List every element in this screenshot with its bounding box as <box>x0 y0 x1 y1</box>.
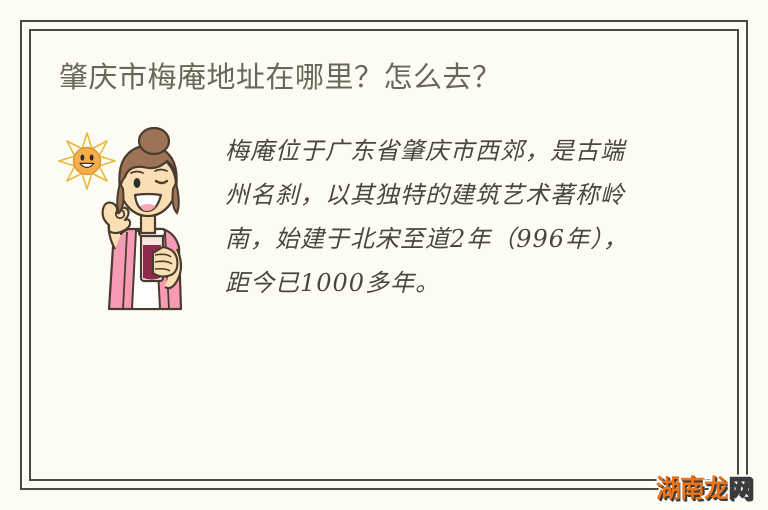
article-body-row: 梅庵位于广东省肇庆市西郊，是古端州名刹，以其独特的建筑艺术著称岭南，始建于北宋至… <box>57 119 709 319</box>
sun-icon <box>59 133 115 189</box>
illustration-girl-with-drink <box>57 119 217 319</box>
site-watermark: 湖 南 龙 网 <box>656 477 752 502</box>
article-page: 肇庆市梅庵地址在哪里？怎么去？ <box>0 0 768 510</box>
watermark-char-4: 网 <box>728 477 752 502</box>
girl-figure <box>103 128 181 309</box>
article-content: 肇庆市梅庵地址在哪里？怎么去？ <box>29 29 739 481</box>
illustration-svg <box>57 119 217 319</box>
watermark-char-3: 龙 <box>704 477 728 502</box>
page-title: 肇庆市梅庵地址在哪里？怎么去？ <box>57 55 659 101</box>
ok-hand <box>103 203 131 233</box>
watermark-char-2: 南 <box>680 477 704 502</box>
article-body: 梅庵位于广东省肇庆市西郊，是古端州名刹，以其独特的建筑艺术著称岭南，始建于北宋至… <box>217 119 645 305</box>
watermark-char-1: 湖 <box>656 477 680 502</box>
holding-hand <box>153 247 177 277</box>
left-eye <box>134 178 141 188</box>
